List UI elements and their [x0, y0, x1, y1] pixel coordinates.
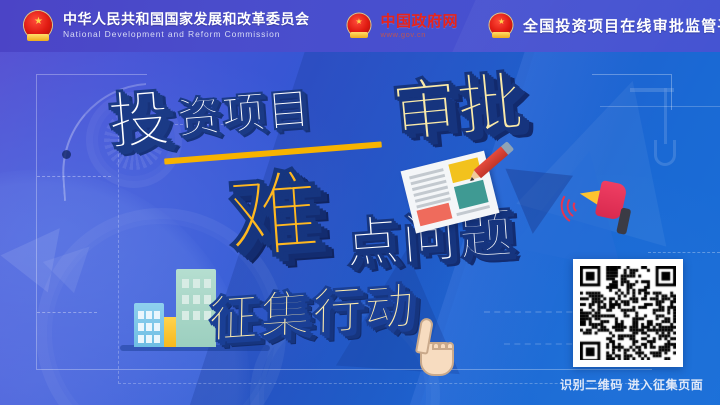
- qr-code-section[interactable]: 识别二维码 进入征集页面: [560, 259, 696, 393]
- national-emblem-icon: ★: [346, 13, 372, 39]
- org-platform-name-cn: 全国投资项目在线审批监管平台: [523, 18, 720, 34]
- qr-caption: 识别二维码 进入征集页面: [560, 376, 696, 393]
- org-investment-platform[interactable]: ★ 全国投资项目在线审批监管平台: [488, 13, 720, 39]
- title-char-tou: 投: [106, 89, 171, 151]
- org-gov-name-cn: 中国政府网: [381, 13, 459, 29]
- national-emblem-icon: ★: [22, 10, 54, 42]
- org-gov-cn[interactable]: ★ 中国政府网 www.gov.cn: [346, 13, 459, 39]
- title-text-shenpi: 审批: [389, 69, 525, 147]
- national-emblem-icon: ★: [488, 13, 514, 39]
- title-text-zhengjixingdong: 征集行动: [208, 281, 416, 346]
- title-line-1: 投 资项目: [106, 78, 314, 151]
- org-ndrc[interactable]: ★ 中华人民共和国国家发展和改革委员会 National Development…: [22, 10, 310, 42]
- title-char-nan: 难: [225, 167, 321, 265]
- poster-banner: ★ 中华人民共和国国家发展和改革委员会 National Development…: [0, 0, 720, 405]
- header-bar: ★ 中华人民共和国国家发展和改革委员会 National Development…: [0, 0, 720, 52]
- org-ndrc-name-cn: 中华人民共和国国家发展和改革委员会: [63, 13, 310, 28]
- pointing-hand-icon: [412, 318, 458, 380]
- org-ndrc-name-en: National Development and Reform Commissi…: [63, 30, 310, 39]
- org-gov-url: www.gov.cn: [381, 31, 459, 39]
- title-text-zixiangmu: 资项目: [176, 88, 314, 141]
- qr-code-image[interactable]: [573, 259, 683, 367]
